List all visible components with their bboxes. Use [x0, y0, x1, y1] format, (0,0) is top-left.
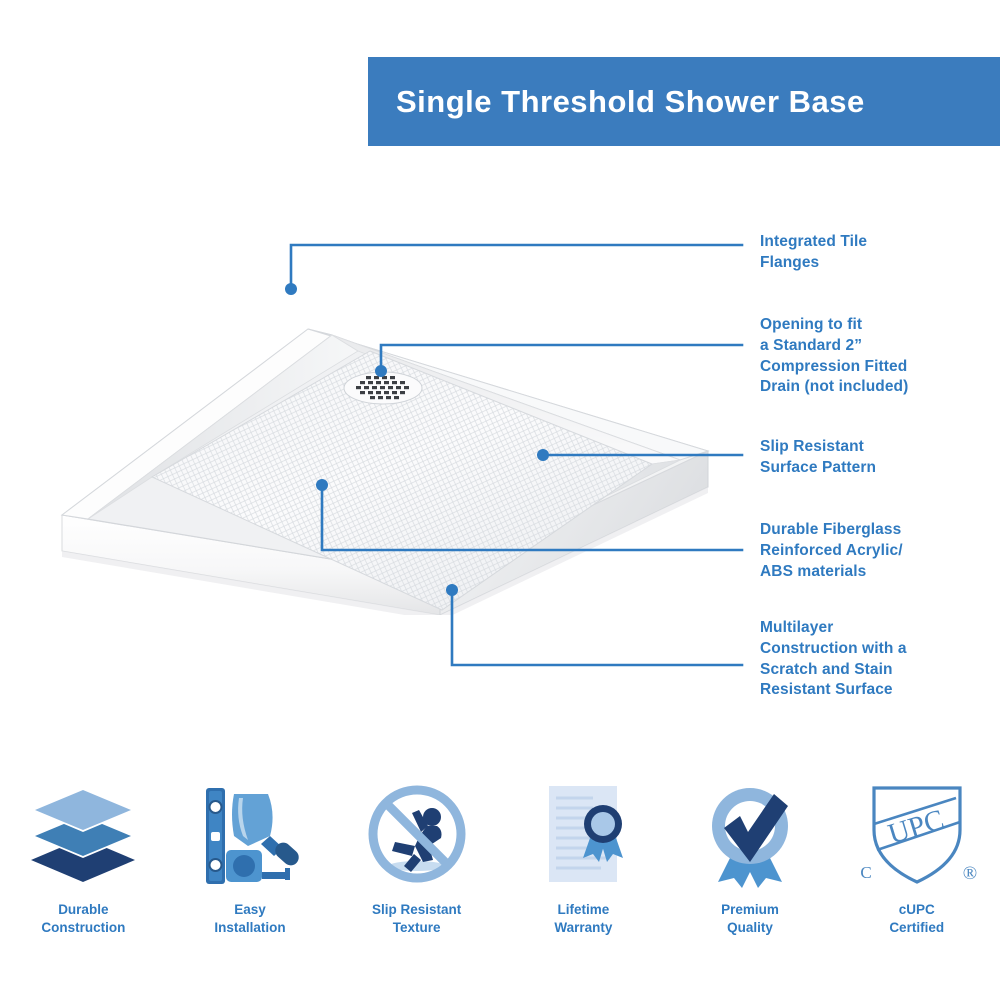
- callout-drain-opening: Opening to fit a Standard 2” Compression…: [760, 315, 908, 398]
- callout-multilayer-construction: Multilayer Construction with a Scratch a…: [760, 618, 907, 701]
- feature-label-easy-installation: Easy Installation: [214, 901, 285, 937]
- feature-label-durable-construction: Durable Construction: [41, 901, 125, 937]
- page-title: Single Threshold Shower Base: [368, 84, 865, 120]
- callout-slip-resistant-surface-pattern: Slip Resistant Surface Pattern: [760, 437, 876, 479]
- feature-label-slip-resistant-texture: Slip Resistant Texture: [372, 901, 461, 937]
- feature-label-lifetime-warranty: Lifetime Warranty: [554, 901, 612, 937]
- feature-easy-installation: Easy Installation: [167, 775, 334, 965]
- feature-premium-quality: Premium Quality: [667, 775, 834, 965]
- feature-cupc-certified: UPC C ® cUPC Certified: [833, 775, 1000, 965]
- header-banner: Single Threshold Shower Base: [368, 57, 1000, 146]
- feature-slip-resistant-texture: Slip Resistant Texture: [333, 775, 500, 965]
- callout-integrated-tile-flanges: Integrated Tile Flanges: [760, 232, 867, 274]
- feature-label-premium-quality: Premium Quality: [721, 901, 779, 937]
- feature-strip: Durable Construction: [0, 775, 1000, 965]
- upc-letters: UPC: [884, 804, 947, 851]
- no-slip-sign-icon: [352, 775, 482, 893]
- feature-label-cupc-certified: cUPC Certified: [889, 901, 944, 937]
- shower-base-svg: [40, 255, 730, 615]
- shower-base-illustration: [40, 255, 730, 615]
- upc-c-mark: C: [860, 863, 871, 882]
- feature-durable-construction: Durable Construction: [0, 775, 167, 965]
- drain: [344, 372, 422, 404]
- infographic-root: Single Threshold Shower Base: [0, 0, 1000, 1000]
- feature-lifetime-warranty: Lifetime Warranty: [500, 775, 667, 965]
- certificate-seal-icon: [518, 775, 648, 893]
- upc-shield-icon: UPC C ®: [852, 775, 982, 893]
- callout-durable-materials: Durable Fiberglass Reinforced Acrylic/ A…: [760, 520, 903, 582]
- level-trowel-tape-icon: [185, 775, 315, 893]
- upc-registered-mark: ®: [962, 863, 976, 884]
- stacked-layers-icon: [18, 775, 148, 893]
- check-rosette-icon: [685, 775, 815, 893]
